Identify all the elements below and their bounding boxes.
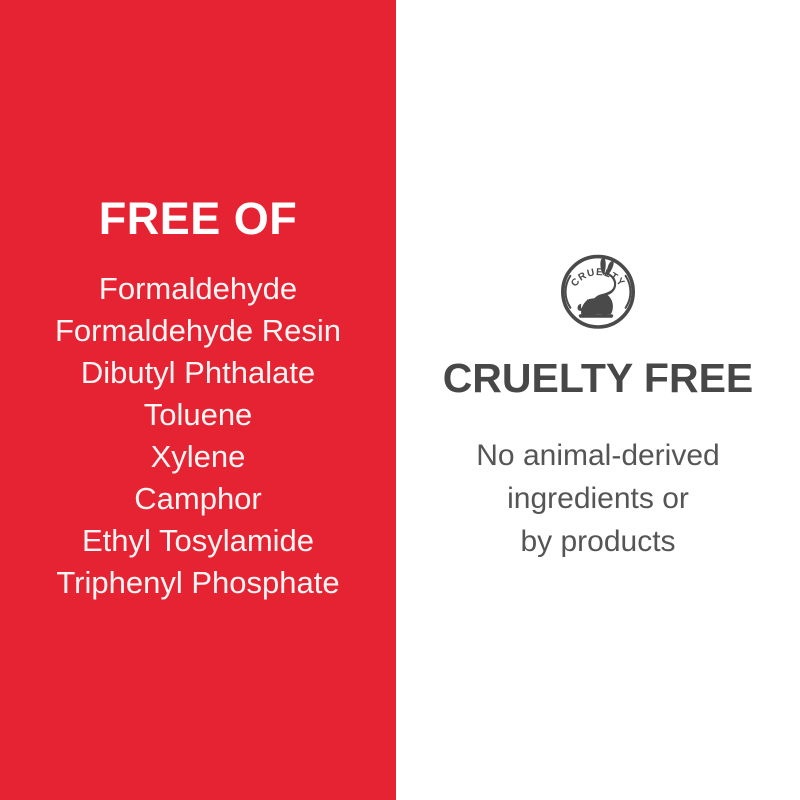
cruelty-free-badge-wrap: CRUELTY FREE bbox=[396, 251, 800, 333]
cruelty-free-description: No animal-derived ingredients or by prod… bbox=[396, 434, 800, 563]
free-of-heading: FREE OF bbox=[0, 196, 396, 241]
free-of-panel: FREE OF Formaldehyde Formaldehyde Resin … bbox=[0, 0, 396, 800]
list-item: Formaldehyde bbox=[0, 268, 396, 310]
product-claims-graphic: FREE OF Formaldehyde Formaldehyde Resin … bbox=[0, 0, 800, 800]
rabbit-silhouette-icon bbox=[578, 258, 617, 318]
list-item: Camphor bbox=[0, 478, 396, 520]
description-line: ingredients or bbox=[396, 477, 800, 520]
description-line: No animal-derived bbox=[396, 434, 800, 477]
cruelty-free-panel: CRUELTY FREE bbox=[396, 0, 800, 800]
list-item: Formaldehyde Resin bbox=[0, 310, 396, 352]
list-item: Dibutyl Phthalate bbox=[0, 352, 396, 394]
list-item: Triphenyl Phosphate bbox=[0, 562, 396, 604]
badge-top-arc-text: CRUELTY bbox=[569, 267, 627, 289]
description-line: by products bbox=[396, 520, 800, 563]
list-item: Toluene bbox=[0, 394, 396, 436]
free-of-ingredient-list: Formaldehyde Formaldehyde Resin Dibutyl … bbox=[0, 268, 396, 604]
list-item: Xylene bbox=[0, 436, 396, 478]
svg-text:CRUELTY: CRUELTY bbox=[569, 267, 627, 289]
list-item: Ethyl Tosylamide bbox=[0, 520, 396, 562]
cruelty-free-heading: CRUELTY FREE bbox=[396, 358, 800, 399]
cruelty-free-rabbit-stamp-icon: CRUELTY FREE bbox=[558, 251, 638, 333]
